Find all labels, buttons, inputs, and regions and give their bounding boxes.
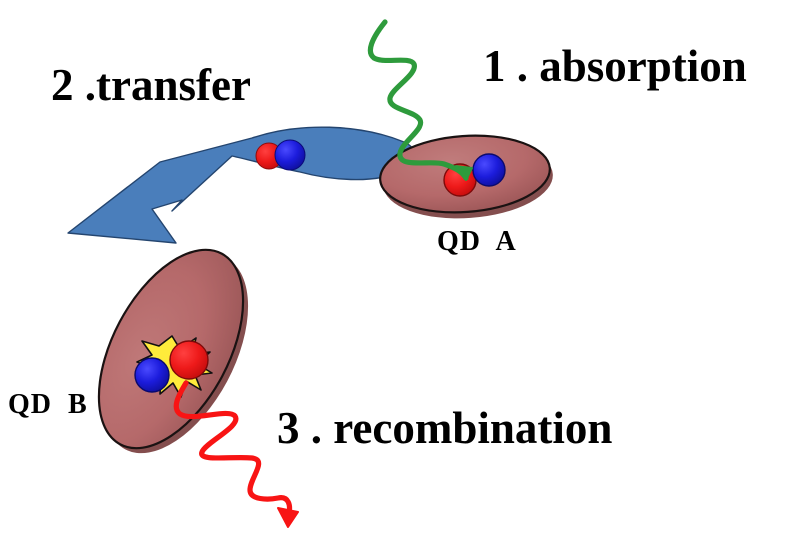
qd-a-hole-blue xyxy=(473,154,505,186)
label-qd-b: QD B xyxy=(8,391,88,419)
qd-b-hole-blue xyxy=(135,358,169,392)
label-step-2-transfer: 2 .transfer xyxy=(51,63,251,108)
transfer-hole-blue xyxy=(275,140,305,170)
transfer-arrow-body xyxy=(68,127,415,243)
label-qd-a: QD A xyxy=(437,228,517,256)
label-step-3-recombination: 3 . recombination xyxy=(277,406,612,451)
transfer-arrow xyxy=(68,127,415,243)
transfer-carriers xyxy=(256,140,305,170)
qd-b-electron-red xyxy=(170,341,208,379)
diagram-canvas: 1 . absorption 2 .transfer 3 . recombina… xyxy=(0,0,794,535)
emission-photon-arrowhead xyxy=(278,508,298,527)
label-step-1-absorption: 1 . absorption xyxy=(483,44,747,89)
quantum-dot-b xyxy=(69,226,278,476)
